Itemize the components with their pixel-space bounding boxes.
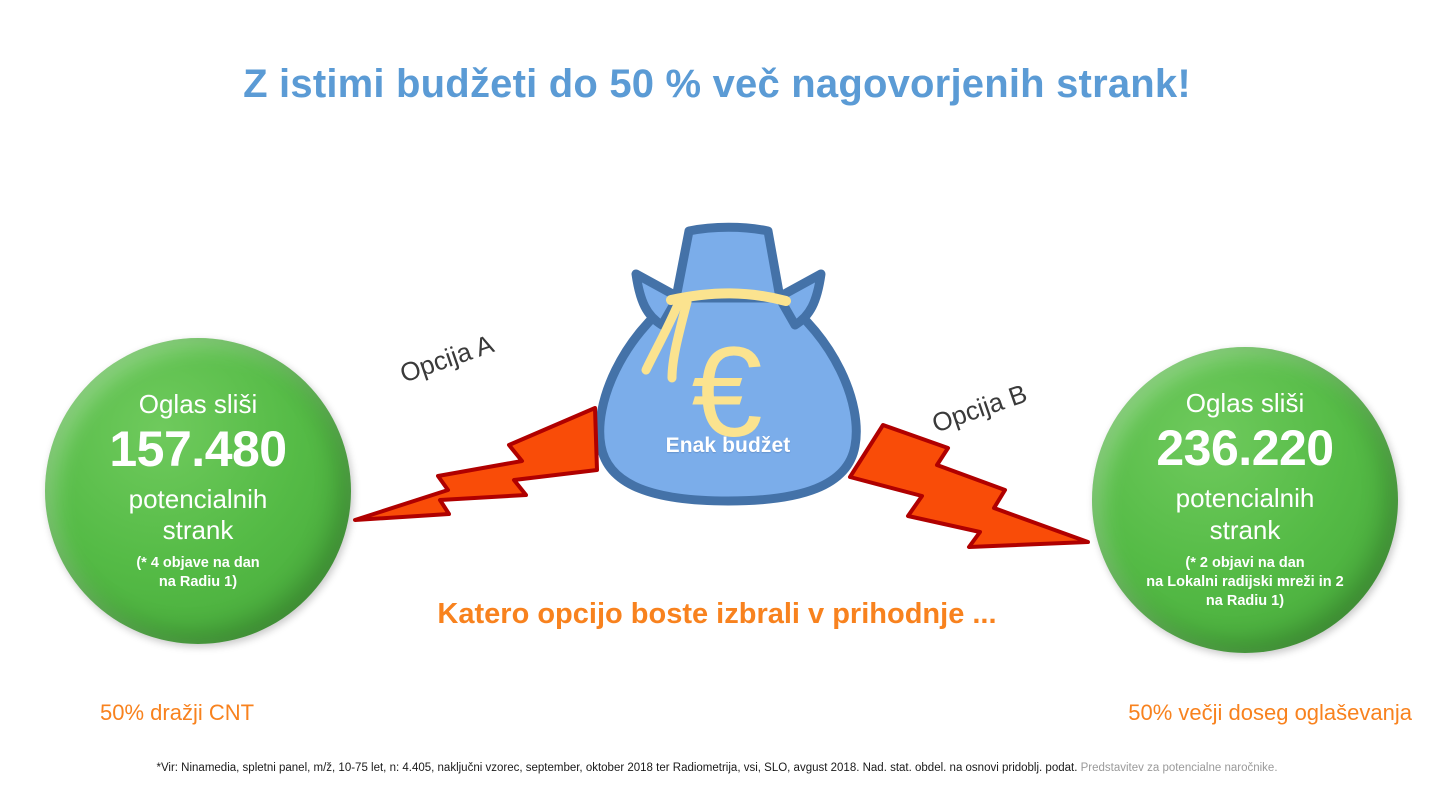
option-a-number: 157.480 (109, 421, 286, 477)
option-b-note-line1: (* 2 objavi na dan (1185, 554, 1304, 573)
page-title: Z istimi budžeti do 50 % več nagovorjeni… (0, 62, 1434, 107)
infographic-canvas: Z istimi budžeti do 50 % več nagovorjeni… (0, 0, 1434, 804)
footnote-disclaimer: Predstavitev za potencialne naročnike. (1081, 762, 1278, 774)
option-a-tag: 50% dražji CNT (100, 700, 254, 726)
lightning-bolt-right-icon (845, 420, 1095, 555)
option-b-lead: Oglas sliši (1186, 389, 1304, 418)
option-a-note-line2: na Radiu 1) (159, 573, 237, 592)
option-a-label: Opcija A (396, 328, 498, 389)
money-bag-icon: € Enak budžet (583, 218, 873, 508)
footnote: *Vir: Ninamedia, spletni panel, m/ž, 10-… (0, 762, 1434, 776)
option-a-subject-line1: potencialnih (129, 484, 268, 516)
option-b-note-line2: na Lokalni radijski mreži in 2 (1146, 573, 1343, 592)
option-b-subject-line1: potencialnih (1176, 483, 1315, 515)
option-a-subject-line2: strank (163, 515, 234, 547)
budget-label: Enak budžet (583, 434, 873, 458)
call-to-action-question: Katero opcijo boste izbrali v prihodnje … (0, 598, 1434, 631)
option-a-lead: Oglas sliši (139, 390, 257, 419)
option-b-tag: 50% večji doseg oglaševanja (1128, 700, 1412, 726)
option-b-number: 236.220 (1156, 420, 1333, 476)
lightning-bolt-left-icon (350, 398, 600, 533)
option-b-subject-line2: strank (1210, 515, 1281, 547)
footnote-source: *Vir: Ninamedia, spletni panel, m/ž, 10-… (156, 762, 1077, 774)
option-a-note-line1: (* 4 objave na dan (136, 554, 259, 573)
